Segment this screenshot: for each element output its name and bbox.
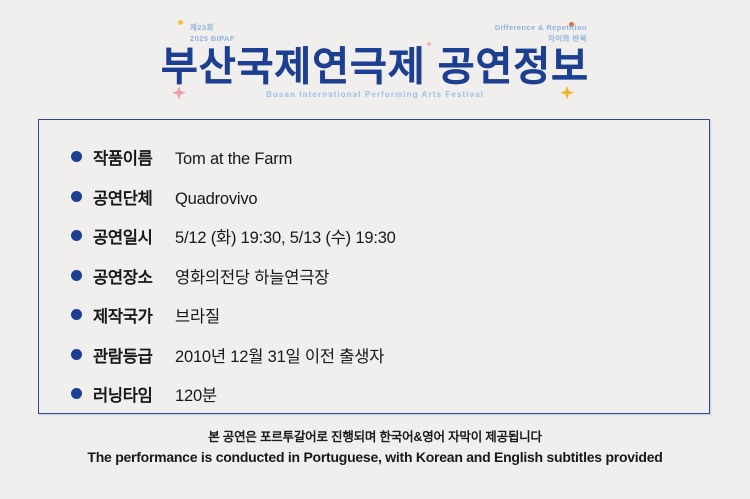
footer-note-english: The performance is conducted in Portugue… — [0, 447, 750, 468]
bullet-icon — [71, 191, 82, 202]
info-label: 관람등급 — [93, 343, 175, 367]
info-label: 제작국가 — [93, 303, 175, 327]
info-label: 공연단체 — [93, 185, 175, 209]
page-title: 부산국제연극제 공연정보 — [0, 46, 750, 88]
page-header: 제23회 2025 BIPAF Difference & Repetition … — [0, 0, 750, 112]
bullet-icon — [71, 388, 82, 399]
bullet-icon — [71, 309, 82, 320]
info-label: 작품이름 — [93, 145, 175, 169]
bullet-icon — [71, 151, 82, 162]
table-row: 공연일시 5/12 (화) 19:30, 5/13 (수) 19:30 — [71, 224, 709, 254]
table-row: 러닝타임 120분 — [71, 382, 709, 412]
info-value: 120분 — [175, 382, 217, 406]
festival-tagline-en: Difference & Repetition — [495, 23, 587, 32]
info-label: 공연장소 — [93, 264, 175, 288]
bullet-icon — [71, 230, 82, 241]
table-row: 작품이름 Tom at the Farm — [71, 145, 709, 175]
festival-tagline-ko: 차이와 반복 — [495, 34, 587, 45]
table-row: 관람등급 2010년 12월 31일 이전 출생자 — [71, 343, 709, 373]
info-value: 2010년 12월 31일 이전 출생자 — [175, 343, 384, 367]
info-value: 5/12 (화) 19:30, 5/13 (수) 19:30 — [175, 224, 396, 248]
bullet-icon — [71, 270, 82, 281]
info-value: Quadrovivo — [175, 190, 257, 209]
table-row: 제작국가 브라질 — [71, 303, 709, 333]
info-value: 브라질 — [175, 303, 220, 327]
table-row: 공연단체 Quadrovivo — [71, 185, 709, 215]
page-subtitle: Busan International Performing Arts Fest… — [0, 90, 750, 99]
info-label: 러닝타임 — [93, 382, 175, 406]
performance-info-panel: 작품이름 Tom at the Farm 공연단체 Quadrovivo 공연일… — [38, 119, 710, 414]
info-value: 영화의전당 하늘연극장 — [175, 264, 329, 288]
table-row: 공연장소 영화의전당 하늘연극장 — [71, 264, 709, 294]
yellow-dot-icon — [178, 20, 183, 25]
festival-tagline: Difference & Repetition 차이와 반복 — [495, 23, 587, 45]
festival-edition-kicker: 제23회 2025 BIPAF — [190, 23, 235, 45]
footer-note-korean: 본 공연은 포르투갈어로 진행되며 한국어&영어 자막이 제공됩니다 — [0, 428, 750, 447]
info-label: 공연일시 — [93, 224, 175, 248]
footer-note: 본 공연은 포르투갈어로 진행되며 한국어&영어 자막이 제공됩니다 The p… — [0, 428, 750, 468]
info-row-list: 작품이름 Tom at the Farm 공연단체 Quadrovivo 공연일… — [39, 120, 709, 412]
info-value: Tom at the Farm — [175, 150, 292, 169]
bullet-icon — [71, 349, 82, 360]
